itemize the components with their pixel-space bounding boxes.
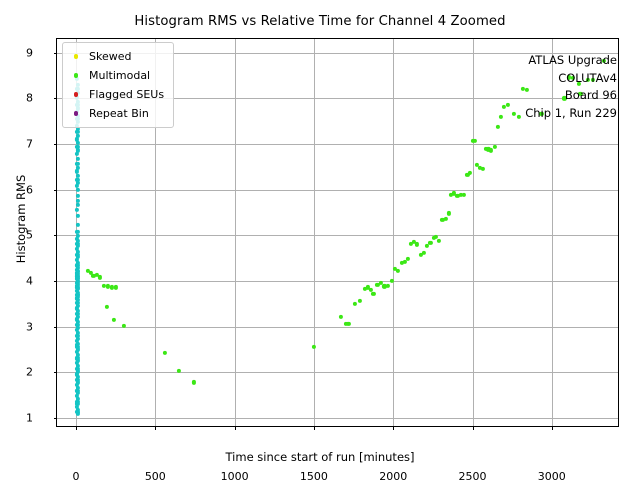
y-tick-label: 1 — [26, 411, 33, 424]
data-point — [76, 203, 80, 207]
data-point — [76, 223, 80, 227]
x-axis-label: Time since start of run [minutes] — [0, 450, 640, 464]
data-point — [447, 211, 451, 215]
page-title: Histogram RMS vs Relative Time for Chann… — [0, 14, 640, 29]
data-point — [339, 315, 343, 319]
data-point — [112, 318, 116, 322]
x-tick-mark — [473, 426, 474, 430]
data-point — [396, 269, 400, 273]
x-tick-mark — [314, 426, 315, 430]
data-point — [462, 193, 466, 197]
data-point — [76, 411, 80, 415]
data-point — [76, 188, 80, 192]
legend-label: Repeat Bin — [89, 107, 149, 120]
data-point — [443, 217, 447, 221]
x-tick-mark — [235, 426, 236, 430]
x-tick-mark — [552, 426, 553, 430]
annotation-line-0: ATLAS Upgrade — [525, 52, 617, 70]
data-point — [346, 322, 350, 326]
data-point — [76, 157, 80, 161]
annotation-line-1: COLUTAv4 — [525, 70, 617, 88]
data-point — [422, 251, 426, 255]
data-point — [75, 169, 79, 173]
data-point — [75, 152, 79, 156]
data-point — [114, 285, 118, 289]
y-axis-label: Histogram RMS — [14, 109, 28, 329]
x-tick-label: 2500 — [459, 470, 487, 480]
data-point — [98, 275, 102, 279]
legend-marker-icon — [68, 54, 84, 59]
data-point — [437, 239, 441, 243]
data-point — [75, 230, 79, 234]
x-tick-label: 2000 — [379, 470, 407, 480]
data-point — [506, 103, 510, 107]
data-point — [489, 148, 493, 152]
legend-marker-icon — [68, 73, 84, 78]
annotation-line-3: Chip 1, Run 229 — [525, 105, 617, 123]
x-tick-label: 1500 — [300, 470, 328, 480]
data-point — [312, 345, 316, 349]
data-point — [105, 304, 109, 308]
data-point — [122, 324, 126, 328]
x-tick-mark — [76, 426, 77, 430]
data-point — [428, 241, 432, 245]
legend[interactable]: SkewedMultimodalFlagged SEUsRepeat Bin — [62, 42, 174, 128]
data-point — [512, 112, 516, 116]
x-tick-label: 3000 — [538, 470, 566, 480]
y-tick-label: 8 — [26, 92, 33, 105]
y-tick-label: 9 — [26, 46, 33, 59]
data-point — [358, 299, 362, 303]
legend-item-multimodal[interactable]: Multimodal — [68, 66, 167, 85]
annotation-line-2: Board 96 — [525, 87, 617, 105]
data-point — [499, 115, 503, 119]
legend-label: Flagged SEUs — [89, 88, 164, 101]
data-point — [516, 115, 520, 119]
data-point — [76, 194, 80, 198]
x-tick-label: 0 — [73, 470, 80, 480]
data-point — [406, 257, 410, 261]
data-point — [75, 208, 79, 212]
x-tick-label: 1000 — [221, 470, 249, 480]
data-point — [481, 167, 485, 171]
data-point — [496, 125, 500, 129]
data-point — [76, 199, 80, 203]
x-tick-mark — [155, 426, 156, 430]
data-point — [76, 281, 80, 285]
data-point — [415, 242, 419, 246]
legend-marker-icon — [68, 92, 84, 97]
data-point — [76, 269, 80, 273]
data-point — [493, 145, 497, 149]
legend-label: Skewed — [89, 50, 131, 63]
annotation-block: ATLAS UpgradeCOLUTAv4Board 96Chip 1, Run… — [525, 52, 617, 122]
data-point — [353, 302, 357, 306]
data-point — [386, 283, 390, 287]
legend-label: Multimodal — [89, 69, 150, 82]
data-point — [473, 139, 477, 143]
data-point — [192, 380, 196, 384]
data-point — [425, 244, 429, 248]
x-tick-label: 500 — [145, 470, 166, 480]
legend-item-repeat_bin[interactable]: Repeat Bin — [68, 104, 167, 123]
data-point — [371, 292, 375, 296]
data-point — [76, 214, 80, 218]
data-point — [390, 279, 394, 283]
data-point — [163, 351, 167, 355]
data-point — [468, 171, 472, 175]
legend-item-flagged_seus[interactable]: Flagged SEUs — [68, 85, 167, 104]
scatter-plot-figure: Histogram RMS vs Relative Time for Chann… — [0, 0, 640, 480]
legend-marker-icon — [68, 111, 84, 116]
x-tick-mark — [393, 426, 394, 430]
y-tick-label: 2 — [26, 366, 33, 379]
data-point — [177, 369, 181, 373]
legend-item-skewed[interactable]: Skewed — [68, 47, 167, 66]
